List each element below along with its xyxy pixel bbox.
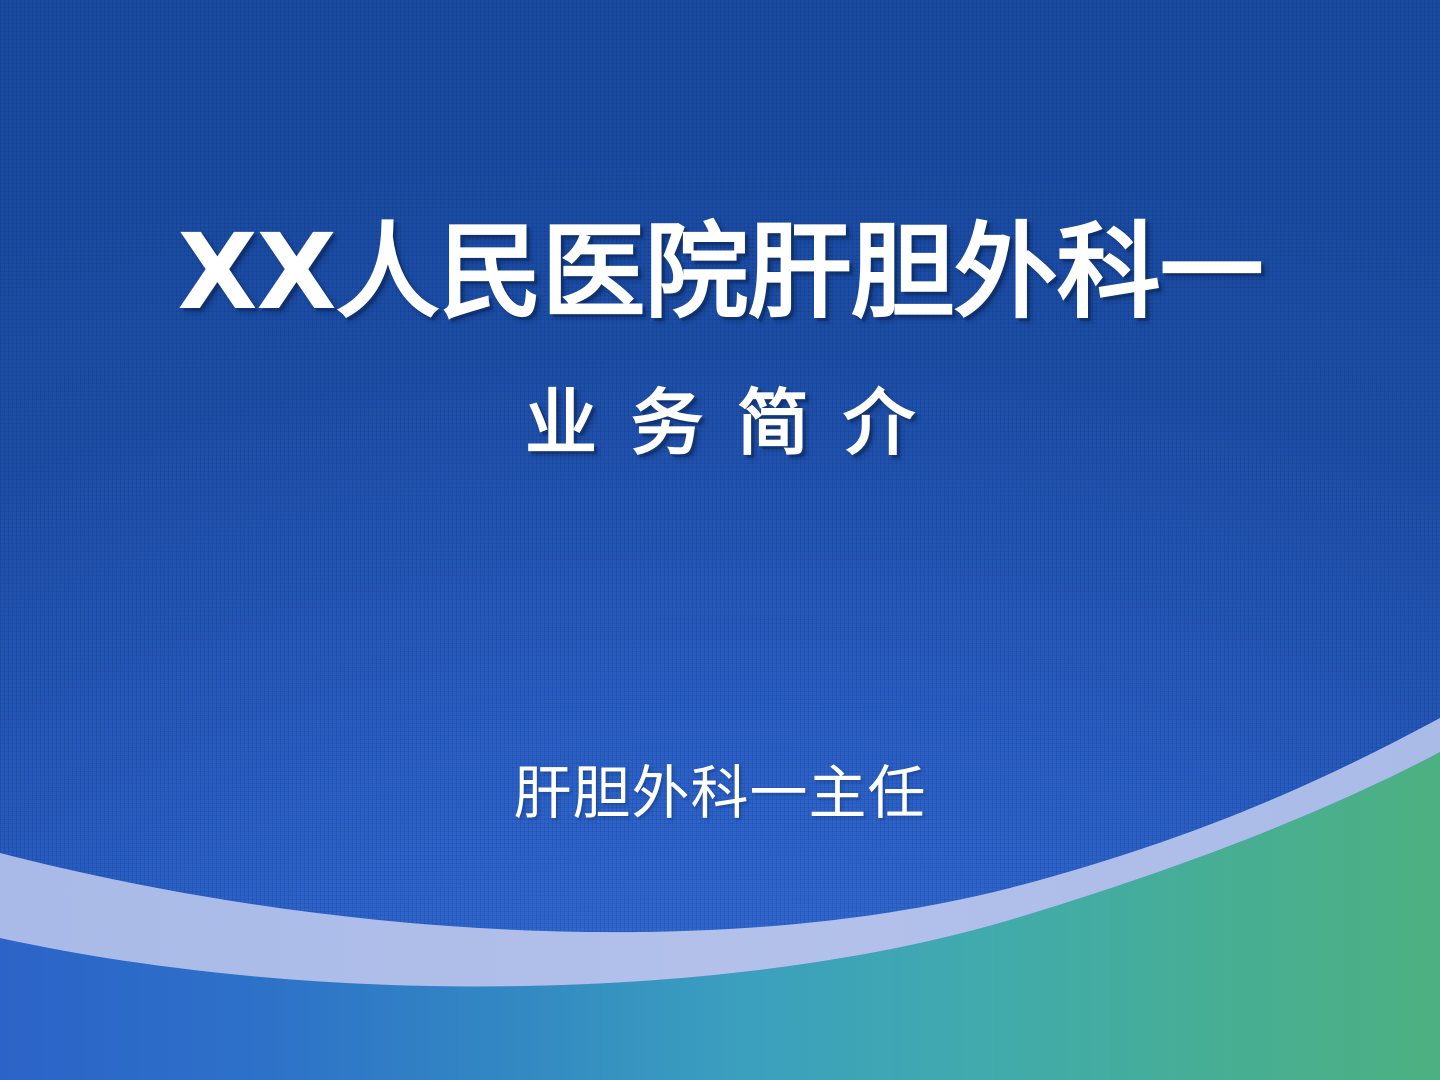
presenter-block: 肝胆外科一主任 bbox=[0, 762, 1440, 826]
title-block: XX人民医院肝胆外科一 业务简介 bbox=[0, 214, 1440, 462]
presentation-slide: XX人民医院肝胆外科一 业务简介 肝胆外科一主任 bbox=[0, 0, 1440, 1080]
slide-title: XX人民医院肝胆外科一 bbox=[0, 214, 1440, 330]
slide-subtitle: 业务简介 bbox=[0, 386, 1440, 462]
presenter-name: 肝胆外科一主任 bbox=[0, 762, 1440, 826]
background-texture bbox=[0, 0, 1440, 1080]
